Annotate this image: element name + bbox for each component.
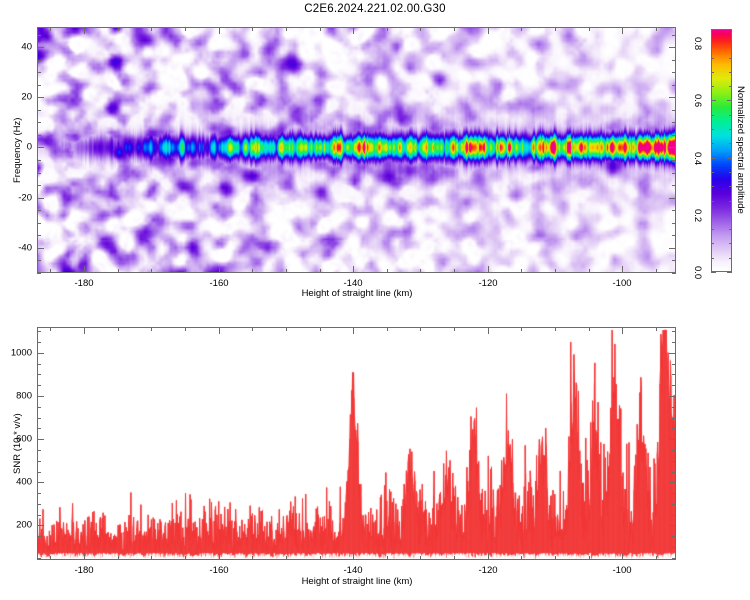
axis-tick	[672, 331, 676, 332]
axis-tick	[37, 461, 41, 462]
axis-tick	[672, 461, 676, 462]
colorbar-tick-label: 0.6	[692, 94, 703, 107]
axis-tick	[711, 43, 716, 44]
axis-tick	[454, 327, 455, 331]
axis-tick	[37, 331, 41, 332]
axis-tick	[672, 418, 676, 419]
axis-tick	[454, 27, 455, 31]
axis-tick	[669, 248, 676, 249]
axis-tick	[711, 186, 714, 187]
colorbar-tick-label: 0.0	[692, 266, 703, 279]
axis-tick	[37, 353, 44, 354]
axis-tick	[729, 229, 732, 230]
top-xtick-label: -180	[74, 278, 93, 289]
axis-tick	[84, 327, 85, 334]
axis-tick	[672, 450, 676, 451]
axis-tick	[521, 556, 522, 560]
axis-tick	[488, 327, 489, 334]
axis-tick	[727, 158, 732, 159]
axis-tick	[729, 243, 732, 244]
axis-tick	[669, 97, 676, 98]
axis-tick	[672, 558, 676, 559]
axis-tick	[711, 72, 714, 73]
axis-tick	[286, 327, 287, 331]
axis-tick	[37, 185, 41, 186]
axis-tick	[729, 258, 732, 259]
axis-tick	[672, 122, 676, 123]
axis-tick	[37, 173, 41, 174]
axis-tick	[711, 243, 714, 244]
axis-tick	[37, 418, 41, 419]
axis-tick	[37, 482, 44, 483]
axis-tick	[622, 266, 623, 273]
axis-tick	[219, 266, 220, 273]
axis-tick	[37, 273, 41, 274]
axis-tick	[387, 27, 388, 31]
axis-tick	[420, 327, 421, 331]
axis-tick	[672, 235, 676, 236]
axis-tick	[672, 135, 676, 136]
axis-tick	[50, 327, 51, 331]
axis-tick	[622, 327, 623, 334]
snr-panel	[37, 327, 676, 560]
axis-tick	[252, 556, 253, 560]
axis-tick	[37, 122, 41, 123]
top-xtick-label: -120	[478, 278, 497, 289]
axis-tick	[50, 27, 51, 31]
axis-tick	[672, 547, 676, 548]
axis-tick	[37, 439, 44, 440]
axis-tick	[37, 35, 41, 36]
axis-tick	[286, 269, 287, 273]
axis-tick	[454, 269, 455, 273]
axis-tick	[320, 269, 321, 273]
axis-tick	[589, 269, 590, 273]
axis-tick	[672, 515, 676, 516]
axis-tick	[589, 556, 590, 560]
top-ytick-label: -40	[7, 243, 32, 254]
axis-tick	[37, 135, 41, 136]
axis-tick	[151, 269, 152, 273]
axis-tick	[420, 556, 421, 560]
axis-tick	[622, 27, 623, 34]
axis-tick	[488, 553, 489, 560]
bottom-xtick-label: -120	[478, 565, 497, 576]
axis-tick	[320, 327, 321, 331]
colorbar	[711, 29, 732, 272]
axis-tick	[37, 385, 41, 386]
axis-tick	[353, 553, 354, 560]
axis-tick	[729, 129, 732, 130]
axis-tick	[37, 85, 41, 86]
figure-root: C2E6.2024.221.02.00.G30 -180-160-140-120…	[0, 0, 750, 600]
axis-tick	[252, 27, 253, 31]
axis-tick	[672, 173, 676, 174]
top-xaxis-label: Height of straight line (km)	[302, 288, 413, 299]
axis-tick	[672, 273, 676, 274]
axis-tick	[521, 269, 522, 273]
axis-tick	[672, 342, 676, 343]
colorbar-tick-label: 0.4	[692, 152, 703, 165]
axis-tick	[669, 525, 676, 526]
axis-tick	[37, 342, 41, 343]
axis-tick	[656, 269, 657, 273]
axis-tick	[711, 229, 714, 230]
axis-tick	[729, 201, 732, 202]
axis-tick	[488, 266, 489, 273]
axis-tick	[729, 143, 732, 144]
axis-tick	[656, 556, 657, 560]
axis-tick	[729, 86, 732, 87]
axis-tick	[37, 210, 41, 211]
axis-tick	[320, 27, 321, 31]
axis-tick	[50, 269, 51, 273]
axis-tick	[729, 115, 732, 116]
colorbar-gradient	[712, 30, 731, 271]
axis-tick	[555, 269, 556, 273]
axis-tick	[84, 27, 85, 34]
axis-tick	[37, 110, 41, 111]
axis-tick	[727, 43, 732, 44]
axis-tick	[37, 223, 41, 224]
axis-tick	[672, 374, 676, 375]
spectrogram-image	[38, 28, 675, 272]
axis-tick	[711, 201, 714, 202]
colorbar-label: Normalized spectral amplitude	[735, 86, 746, 214]
bottom-ytick-label: 400	[4, 477, 32, 488]
axis-tick	[252, 327, 253, 331]
axis-tick	[672, 72, 676, 73]
axis-tick	[151, 27, 152, 31]
axis-tick	[729, 172, 732, 173]
axis-tick	[37, 97, 44, 98]
axis-tick	[711, 158, 716, 159]
axis-tick	[353, 327, 354, 334]
axis-tick	[37, 396, 44, 397]
axis-tick	[37, 364, 41, 365]
bottom-xtick-label: -100	[612, 565, 631, 576]
axis-tick	[672, 407, 676, 408]
axis-tick	[320, 556, 321, 560]
axis-tick	[37, 428, 41, 429]
axis-tick	[185, 269, 186, 273]
axis-tick	[37, 547, 41, 548]
figure-title: C2E6.2024.221.02.00.G30	[0, 3, 750, 15]
bottom-xtick-label: -180	[74, 565, 93, 576]
axis-tick	[488, 27, 489, 34]
bottom-yaxis-label: SNR (10 * v/v)	[12, 413, 23, 474]
axis-tick	[672, 364, 676, 365]
axis-tick	[286, 27, 287, 31]
axis-tick	[521, 327, 522, 331]
axis-tick	[387, 556, 388, 560]
axis-tick	[669, 396, 676, 397]
bottom-xtick-label: -140	[343, 565, 362, 576]
top-ytick-label: 40	[7, 42, 32, 53]
axis-tick	[37, 450, 41, 451]
axis-tick	[669, 47, 676, 48]
axis-tick	[672, 536, 676, 537]
axis-tick	[118, 269, 119, 273]
bottom-ytick-label: 200	[4, 520, 32, 531]
axis-tick	[50, 556, 51, 560]
axis-tick	[37, 47, 44, 48]
axis-tick	[84, 266, 85, 273]
axis-tick	[219, 553, 220, 560]
axis-tick	[37, 374, 41, 375]
axis-tick	[555, 27, 556, 31]
axis-tick	[118, 327, 119, 331]
axis-tick	[622, 553, 623, 560]
axis-tick	[727, 215, 732, 216]
axis-tick	[672, 223, 676, 224]
axis-tick	[219, 27, 220, 34]
axis-tick	[37, 160, 41, 161]
axis-tick	[672, 185, 676, 186]
axis-tick	[353, 266, 354, 273]
axis-tick	[185, 327, 186, 331]
top-xtick-label: -160	[209, 278, 228, 289]
axis-tick	[672, 260, 676, 261]
axis-tick	[387, 327, 388, 331]
axis-tick	[185, 27, 186, 31]
axis-tick	[727, 100, 732, 101]
axis-tick	[37, 472, 41, 473]
axis-tick	[672, 385, 676, 386]
axis-tick	[672, 160, 676, 161]
axis-tick	[555, 556, 556, 560]
axis-tick	[669, 198, 676, 199]
bottom-ytick-label: 800	[4, 391, 32, 402]
axis-tick	[37, 235, 41, 236]
axis-tick	[711, 258, 714, 259]
axis-tick	[711, 29, 714, 30]
axis-tick	[37, 60, 41, 61]
axis-tick	[672, 60, 676, 61]
axis-tick	[672, 504, 676, 505]
axis-tick	[729, 58, 732, 59]
axis-tick	[151, 327, 152, 331]
axis-tick	[37, 515, 41, 516]
axis-tick	[669, 482, 676, 483]
axis-tick	[37, 198, 44, 199]
axis-tick	[711, 272, 716, 273]
top-xtick-label: -100	[612, 278, 631, 289]
axis-tick	[37, 248, 44, 249]
axis-tick	[37, 260, 41, 261]
axis-tick	[454, 556, 455, 560]
axis-tick	[219, 327, 220, 334]
axis-tick	[672, 428, 676, 429]
axis-tick	[118, 27, 119, 31]
colorbar-tick-label: 0.8	[692, 37, 703, 50]
axis-tick	[37, 72, 41, 73]
axis-tick	[84, 553, 85, 560]
axis-tick	[729, 186, 732, 187]
axis-tick	[37, 493, 41, 494]
axis-tick	[37, 504, 41, 505]
axis-tick	[286, 556, 287, 560]
axis-tick	[711, 115, 714, 116]
axis-tick	[669, 353, 676, 354]
axis-tick	[387, 269, 388, 273]
axis-tick	[151, 556, 152, 560]
axis-tick	[420, 269, 421, 273]
colorbar-tick-label: 0.2	[692, 209, 703, 222]
axis-tick	[672, 35, 676, 36]
axis-tick	[711, 129, 714, 130]
axis-tick	[711, 143, 714, 144]
axis-tick	[711, 172, 714, 173]
axis-tick	[589, 27, 590, 31]
axis-tick	[37, 147, 44, 148]
bottom-ytick-label: 1000	[4, 348, 32, 359]
axis-tick	[672, 493, 676, 494]
spectrogram-panel	[37, 27, 676, 273]
axis-tick	[672, 472, 676, 473]
axis-tick	[672, 110, 676, 111]
axis-tick	[672, 85, 676, 86]
axis-tick	[669, 439, 676, 440]
top-ytick-label: -20	[7, 193, 32, 204]
top-yaxis-label: Frequency (Hz)	[12, 117, 23, 182]
snr-trace	[38, 328, 675, 559]
axis-tick	[656, 27, 657, 31]
axis-tick	[711, 215, 716, 216]
axis-tick	[555, 327, 556, 331]
axis-tick	[669, 147, 676, 148]
axis-tick	[37, 525, 44, 526]
axis-tick	[727, 272, 732, 273]
axis-tick	[656, 327, 657, 331]
axis-tick	[37, 558, 41, 559]
bottom-xtick-label: -160	[209, 565, 228, 576]
axis-tick	[589, 327, 590, 331]
axis-tick	[711, 86, 714, 87]
top-ytick-label: 20	[7, 92, 32, 103]
axis-tick	[711, 100, 716, 101]
axis-tick	[729, 72, 732, 73]
bottom-xaxis-label: Height of straight line (km)	[302, 576, 413, 587]
axis-tick	[672, 210, 676, 211]
axis-tick	[185, 556, 186, 560]
axis-tick	[37, 536, 41, 537]
axis-tick	[729, 29, 732, 30]
axis-tick	[711, 58, 714, 59]
axis-tick	[420, 27, 421, 31]
axis-tick	[353, 27, 354, 34]
axis-tick	[252, 269, 253, 273]
axis-tick	[37, 407, 41, 408]
axis-tick	[521, 27, 522, 31]
axis-tick	[118, 556, 119, 560]
